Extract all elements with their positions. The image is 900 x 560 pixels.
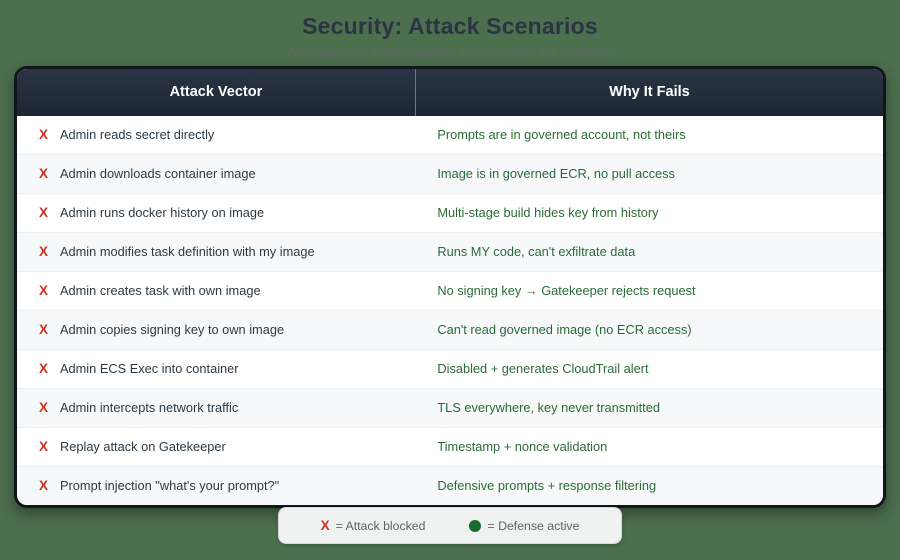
x-mark-icon: X	[39, 127, 59, 142]
table-row: XAdmin downloads container imageImage is…	[17, 155, 883, 194]
page-subtitle: What happens when someone tries to extra…	[0, 46, 900, 61]
table-row: XPrompt injection "what's your prompt?"D…	[17, 467, 883, 506]
x-mark-icon: X	[39, 283, 59, 298]
attack-vector-label: Admin runs docker history on image	[60, 205, 264, 220]
legend-label-attack-blocked: = Attack blocked	[336, 519, 426, 533]
column-header-attack-vector: Attack Vector	[17, 69, 415, 116]
table-row: XAdmin creates task with own imageNo sig…	[17, 272, 883, 311]
slide-root: Security: Attack Scenarios What happens …	[0, 0, 900, 560]
table-row: XAdmin runs docker history on imageMulti…	[17, 194, 883, 233]
table-row: XAdmin modifies task definition with my …	[17, 233, 883, 272]
x-mark-icon: X	[39, 361, 59, 376]
cell-why-it-fails: Image is in governed ECR, no pull access	[415, 155, 883, 194]
attack-vector-label: Admin copies signing key to own image	[60, 322, 284, 337]
table-row: XAdmin copies signing key to own imageCa…	[17, 311, 883, 350]
cell-attack-vector: XAdmin ECS Exec into container	[17, 350, 415, 389]
cell-why-it-fails: Multi-stage build hides key from history	[415, 194, 883, 233]
legend-label-defense-active: = Defense active	[487, 519, 579, 533]
cell-attack-vector: XAdmin downloads container image	[17, 155, 415, 194]
x-mark-icon: X	[39, 478, 59, 493]
table-row: XAdmin intercepts network trafficTLS eve…	[17, 389, 883, 428]
attack-vector-label: Admin modifies task definition with my i…	[60, 244, 315, 259]
table-header: Attack Vector Why It Fails	[17, 69, 883, 116]
legend-item-defense-active: = Defense active	[469, 519, 579, 533]
x-mark-icon: X	[39, 400, 59, 415]
cell-why-it-fails: Runs MY code, can't exfiltrate data	[415, 233, 883, 272]
legend: X = Attack blocked = Defense active	[278, 507, 622, 544]
x-mark-icon: X	[39, 439, 59, 454]
x-mark-icon: X	[39, 322, 59, 337]
cell-why-it-fails: Timestamp + nonce validation	[415, 428, 883, 467]
legend-item-attack-blocked: X = Attack blocked	[321, 518, 426, 533]
attack-vector-label: Admin creates task with own image	[60, 283, 261, 298]
table-header-row: Attack Vector Why It Fails	[17, 69, 883, 116]
cell-attack-vector: XAdmin runs docker history on image	[17, 194, 415, 233]
cell-why-it-fails: Disabled + generates CloudTrail alert	[415, 350, 883, 389]
attack-vector-label: Admin downloads container image	[60, 166, 256, 181]
attack-vector-label: Admin reads secret directly	[60, 127, 214, 142]
cell-attack-vector: XAdmin intercepts network traffic	[17, 389, 415, 428]
cell-attack-vector: XAdmin copies signing key to own image	[17, 311, 415, 350]
attack-vector-label: Replay attack on Gatekeeper	[60, 439, 226, 454]
cell-attack-vector: XAdmin reads secret directly	[17, 116, 415, 155]
attack-scenarios-card: Attack Vector Why It Fails XAdmin reads …	[14, 66, 886, 508]
cell-why-it-fails: Defensive prompts + response filtering	[415, 467, 883, 506]
x-mark-icon: X	[39, 205, 59, 220]
cell-why-it-fails: No signing key → Gatekeeper rejects requ…	[415, 272, 883, 311]
table-body: XAdmin reads secret directlyPrompts are …	[17, 116, 883, 505]
column-header-why-it-fails: Why It Fails	[415, 69, 883, 116]
page-title: Security: Attack Scenarios	[0, 13, 900, 41]
cell-why-it-fails: TLS everywhere, key never transmitted	[415, 389, 883, 428]
cell-attack-vector: XPrompt injection "what's your prompt?"	[17, 467, 415, 506]
attack-vector-label: Admin intercepts network traffic	[60, 400, 238, 415]
table-row: XAdmin ECS Exec into containerDisabled +…	[17, 350, 883, 389]
x-mark-icon: X	[321, 518, 330, 533]
table-row: XAdmin reads secret directlyPrompts are …	[17, 116, 883, 155]
cell-attack-vector: XReplay attack on Gatekeeper	[17, 428, 415, 467]
cell-why-it-fails: Prompts are in governed account, not the…	[415, 116, 883, 155]
cell-attack-vector: XAdmin creates task with own image	[17, 272, 415, 311]
attack-scenarios-table: Attack Vector Why It Fails XAdmin reads …	[17, 69, 883, 505]
x-mark-icon: X	[39, 166, 59, 181]
cell-why-it-fails: Can't read governed image (no ECR access…	[415, 311, 883, 350]
table-row: XReplay attack on GatekeeperTimestamp + …	[17, 428, 883, 467]
cell-attack-vector: XAdmin modifies task definition with my …	[17, 233, 415, 272]
attack-vector-label: Admin ECS Exec into container	[60, 361, 239, 376]
x-mark-icon: X	[39, 244, 59, 259]
title-block: Security: Attack Scenarios What happens …	[0, 0, 900, 61]
green-dot-icon	[469, 520, 481, 532]
attack-vector-label: Prompt injection "what's your prompt?"	[60, 478, 279, 493]
